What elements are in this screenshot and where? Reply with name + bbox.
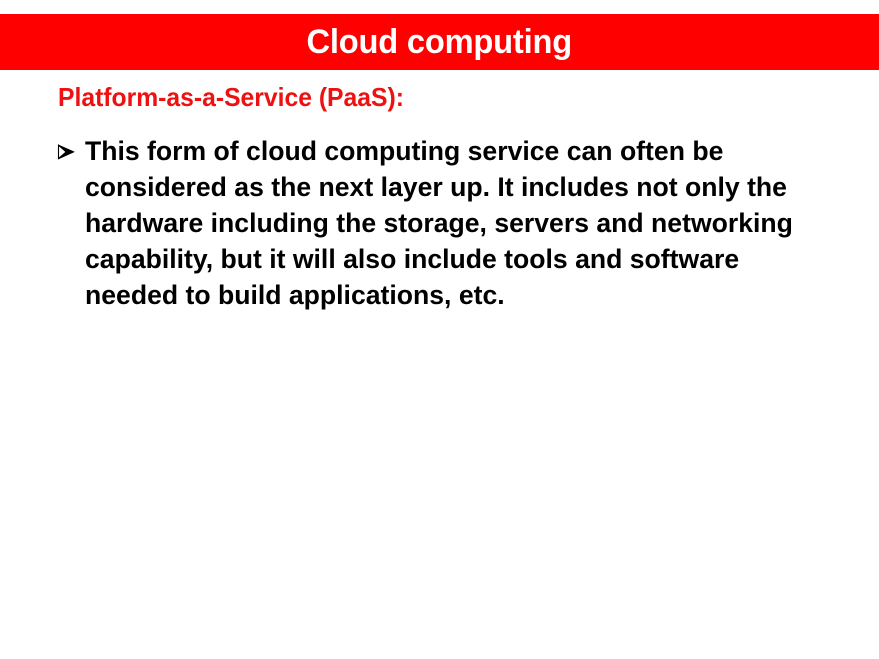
slide-canvas: Cloud computing Platform-as-a-Service (P…: [0, 0, 879, 659]
list-item: This form of cloud computing service can…: [56, 133, 856, 313]
title-banner: Cloud computing: [0, 14, 879, 70]
list-item-label: This form of cloud computing service can…: [85, 133, 826, 313]
body-content: This form of cloud computing service can…: [56, 133, 856, 313]
arrowhead-bullet-icon: [56, 133, 85, 169]
section-subtitle: Platform-as-a-Service (PaaS):: [58, 83, 404, 113]
page-title: Cloud computing: [307, 25, 572, 59]
